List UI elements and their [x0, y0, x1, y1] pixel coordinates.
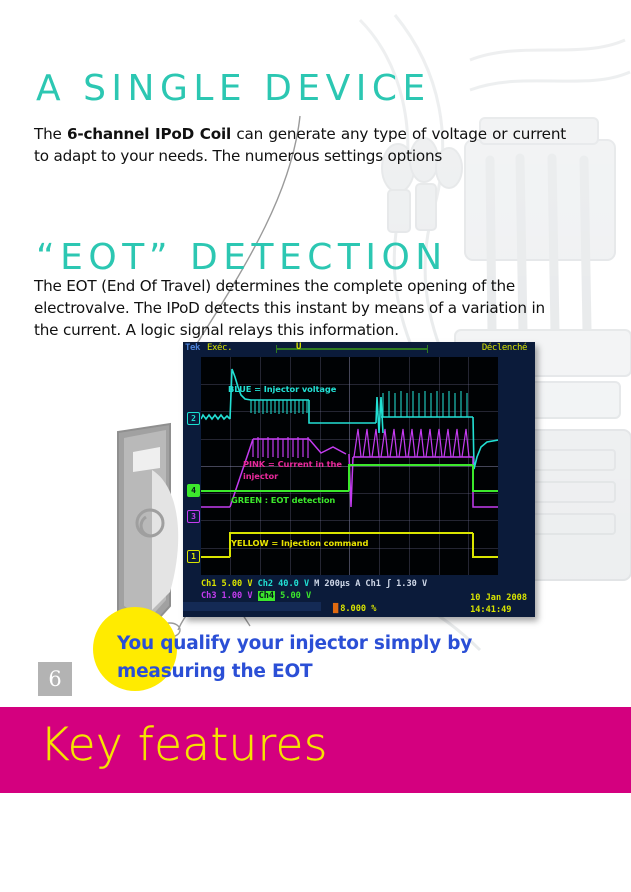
- footer-title: Key features: [40, 718, 328, 771]
- caption-text: You qualify your injector simply by meas…: [117, 630, 547, 686]
- paragraph-bold-term: 6-channel IPoD Coil: [67, 125, 231, 143]
- scope-trigger-state: Déclenché: [482, 343, 527, 353]
- channel-marker-4[interactable]: 4: [187, 484, 200, 497]
- ch3-label[interactable]: Ch3: [201, 591, 217, 601]
- trigger-source-channel[interactable]: Ch1: [365, 579, 381, 589]
- oscilloscope-screenshot: Tek Exéc. U Déclenché U: [183, 342, 535, 617]
- trigger-level-value[interactable]: 1.30 V: [396, 579, 427, 589]
- page-title-single-device: A SINGLE DEVICE: [36, 68, 431, 109]
- ch2-value[interactable]: 40.0 V: [278, 579, 309, 589]
- scope-settings-backdrop: [183, 602, 321, 611]
- channel-marker-1[interactable]: 1: [187, 550, 200, 563]
- channel-marker-3[interactable]: 3: [187, 510, 200, 523]
- ch1-label[interactable]: Ch1: [201, 579, 217, 589]
- caption-line-2: measuring the EOT: [117, 658, 547, 686]
- scope-trigger-symbol: U: [296, 342, 301, 352]
- paragraph-single-device: The 6-channel IPoD Coil can generate any…: [34, 123, 566, 167]
- trigger-source-a: A: [355, 579, 360, 589]
- horizontal-position-value: 8.000 %: [340, 604, 376, 614]
- scope-time: 14:41:49: [470, 604, 527, 616]
- ch4-label[interactable]: Ch4: [258, 591, 276, 601]
- ch1-value[interactable]: 5.00 V: [222, 579, 253, 589]
- timebase-prefix: M: [314, 579, 319, 589]
- waveform-label-green: GREEN : EOT detection: [231, 495, 335, 505]
- ch3-value[interactable]: 1.00 V: [222, 591, 253, 601]
- ch4-value[interactable]: 5.00 V: [280, 591, 311, 601]
- waveform-label-blue: BLUE = Injector voltage: [228, 384, 336, 394]
- scope-run-state: Exéc.: [207, 343, 232, 353]
- horizontal-position-readout: █8.000 %: [333, 604, 381, 614]
- scope-status-bar: Tek Exéc. U Déclenché: [183, 342, 535, 356]
- scope-settings-row-1: Ch15.00 VCh240.0 VM200µsACh1ʃ1.30 V: [201, 579, 432, 589]
- caption-line-1: You qualify your injector simply by: [117, 630, 547, 658]
- scope-date: 10 Jan 2008: [470, 592, 527, 604]
- brochure-page: A SINGLE DEVICE The 6-channel IPoD Coil …: [0, 0, 631, 892]
- trigger-position-icon: █: [333, 604, 338, 614]
- scope-settings-bar: Ch15.00 VCh240.0 VM200µsACh1ʃ1.30 V Ch31…: [183, 578, 535, 617]
- waveform-label-yellow: YELLOW = Injection command: [231, 538, 368, 548]
- scope-timestamp: 10 Jan 2008 14:41:49: [470, 592, 527, 616]
- channel-marker-2[interactable]: 2: [187, 412, 200, 425]
- page-title-eot-detection: “EOT” DETECTION: [36, 237, 448, 278]
- waveform-label-pink-2: injector: [243, 471, 278, 481]
- scope-brand-label: Tek: [185, 343, 200, 353]
- paragraph-eot-detection: The EOT (End Of Travel) determines the c…: [34, 275, 560, 341]
- scope-settings-row-2: Ch31.00 VCh45.00 V: [201, 591, 316, 601]
- trigger-slope-icon: ʃ: [386, 579, 391, 589]
- timebase-value[interactable]: 200µs: [324, 579, 350, 589]
- ch2-label[interactable]: Ch2: [258, 579, 274, 589]
- page-number-badge: 6: [38, 662, 72, 696]
- waveform-label-pink: PINK = Current in the: [243, 459, 342, 469]
- paragraph-prefix: The: [34, 125, 67, 143]
